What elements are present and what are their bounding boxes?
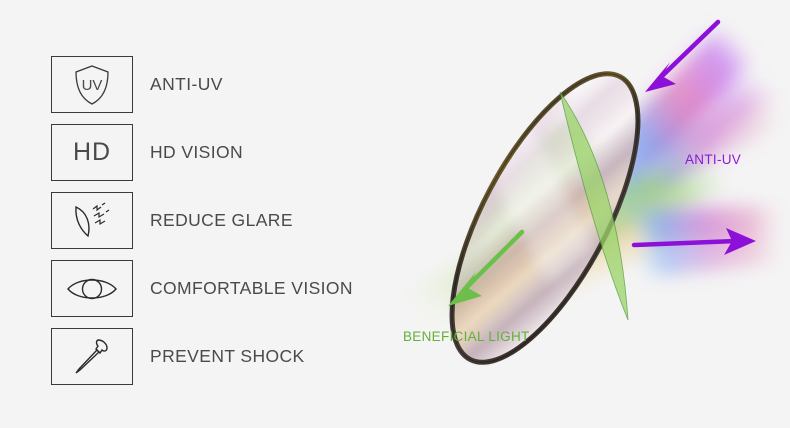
feature-icon-box: [51, 260, 133, 317]
glare-deflect-icon: [69, 200, 115, 242]
feature-row-prevent-shock: PREVENT SHOCK: [51, 328, 391, 396]
feature-label-hd-vision: HD VISION: [150, 124, 243, 181]
feature-icon-box: [51, 328, 133, 385]
infographic-canvas: UV ANTI-UV HD HD VISION: [0, 0, 790, 428]
feature-row-comfortable-vision: COMFORTABLE VISION: [51, 260, 391, 328]
feature-row-anti-uv: UV ANTI-UV: [51, 56, 391, 124]
beneficial-light-label: BENEFICIAL LIGHT: [403, 329, 530, 344]
feature-label-reduce-glare: REDUCE GLARE: [150, 192, 293, 249]
feature-row-hd-vision: HD HD VISION: [51, 124, 391, 192]
svg-text:UV: UV: [82, 77, 103, 94]
feature-list: UV ANTI-UV HD HD VISION: [51, 56, 391, 396]
feature-row-reduce-glare: REDUCE GLARE: [51, 192, 391, 260]
feature-icon-box: UV: [51, 56, 133, 113]
feature-label-anti-uv: ANTI-UV: [150, 56, 223, 113]
feature-icon-box: [51, 192, 133, 249]
feature-label-comfortable-vision: COMFORTABLE VISION: [150, 260, 353, 317]
feature-icon-box: HD: [51, 124, 133, 181]
hammer-icon: [70, 335, 114, 379]
anti-uv-label: ANTI-UV: [685, 152, 741, 167]
hd-text-icon: HD: [73, 138, 111, 167]
eye-icon: [66, 274, 118, 304]
feature-label-prevent-shock: PREVENT SHOCK: [150, 328, 305, 385]
uv-shield-icon: UV: [72, 63, 112, 107]
lens-illustration: ANTI-UV BENEFICIAL LIGHT: [390, 0, 790, 428]
